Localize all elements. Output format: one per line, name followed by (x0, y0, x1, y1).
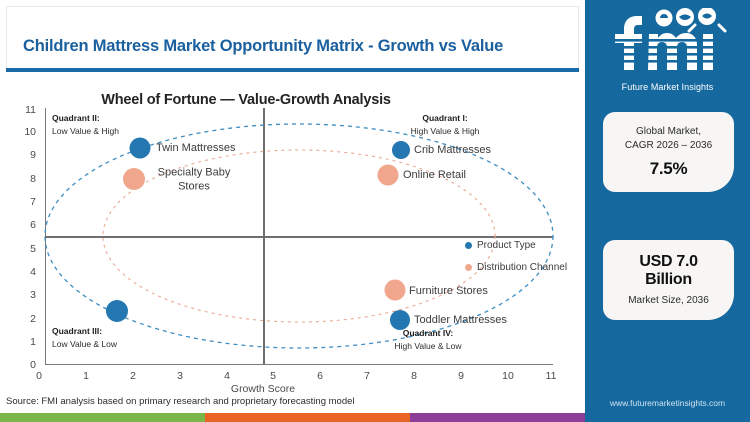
y-tick: 6 (10, 219, 36, 231)
y-tick: 8 (10, 173, 36, 185)
legend-item-distribution-channel[interactable]: Distribution Channel (465, 262, 567, 273)
footer-strip-orange (205, 413, 410, 422)
y-tick: 4 (10, 266, 36, 278)
y-tick: 10 (10, 126, 36, 138)
quadrant-I-heading: Quadrant I: (390, 112, 500, 125)
quadrant-label-IV: Quadrant IV: High Value & Low (373, 327, 483, 353)
market-size-caption: Market Size, 2036 (628, 294, 709, 308)
x-tick: 5 (258, 370, 288, 382)
x-tick: 10 (493, 370, 523, 382)
quadrant-label-III: Quadrant III: Low Value & Low (52, 325, 117, 351)
market-size-value-line2: Billion (645, 271, 692, 289)
x-tick: 9 (446, 370, 476, 382)
quadrant-II-desc: Low Value & High (52, 125, 119, 138)
quadrant-divider-horizontal (45, 236, 553, 238)
quadrant-II-heading: Quadrant II: (52, 112, 119, 125)
cagr-caption-line1: Global Market, (636, 125, 701, 139)
main-content-area: Children Mattress Market Opportunity Mat… (0, 0, 585, 422)
x-tick: 7 (352, 370, 382, 382)
data-point-specialty-baby-stores[interactable] (123, 168, 145, 190)
infographic-root: Children Mattress Market Opportunity Mat… (0, 0, 750, 422)
x-tick: 0 (24, 370, 54, 382)
x-tick: 4 (212, 370, 242, 382)
cagr-caption-line2: CAGR 2026 – 2036 (625, 139, 712, 153)
chart-title: Wheel of Fortune — Value-Growth Analysis (6, 92, 486, 108)
data-label-twin-mattresses: Twin Mattresses (156, 142, 235, 154)
data-label-crib-mattresses: Crib Mattresses (414, 144, 491, 156)
y-tick: 1 (10, 336, 36, 348)
y-tick: 5 (10, 243, 36, 255)
legend-item-product-type[interactable]: Product Type (465, 240, 536, 251)
data-point-twin-mattresses[interactable] (130, 138, 151, 159)
legend-dot-product-type (465, 242, 472, 249)
data-label-toddler-mattresses: Toddler Mattresses (414, 314, 507, 326)
legend-label-distribution-channel: Distribution Channel (477, 262, 567, 273)
fmi-logo-subtitle: Future Market Insights (585, 82, 750, 92)
data-point-toddler-mattresses[interactable] (390, 310, 410, 330)
website-url[interactable]: www.futuremarketinsights.com (585, 398, 750, 408)
source-note: Source: FMI analysis based on primary re… (6, 396, 355, 407)
footer-strip-purple (410, 413, 585, 422)
y-tick: 11 (10, 104, 36, 116)
quadrant-III-desc: Low Value & Low (52, 338, 117, 351)
x-tick: 11 (536, 370, 566, 382)
x-tick: 1 (71, 370, 101, 382)
y-tick: 9 (10, 149, 36, 161)
fmi-logo-mark (609, 8, 727, 80)
x-tick: 3 (165, 370, 195, 382)
data-point-furniture-stores[interactable] (385, 280, 406, 301)
y-tick: 7 (10, 196, 36, 208)
footer-strip-green (0, 413, 205, 422)
data-label-online-retail: Online Retail (403, 169, 466, 181)
quadrant-I-desc: High Value & High (390, 125, 500, 138)
x-tick: 2 (118, 370, 148, 382)
quadrant-label-II: Quadrant II: Low Value & High (52, 112, 119, 138)
cagr-value: 7.5% (650, 159, 688, 179)
stat-card-market-size: USD 7.0 Billion Market Size, 2036 (603, 240, 734, 320)
stat-card-cagr: Global Market, CAGR 2026 – 2036 7.5% (603, 112, 734, 192)
x-tick: 8 (399, 370, 429, 382)
data-label-furniture-stores: Furniture Stores (409, 285, 488, 297)
y-tick: 3 (10, 289, 36, 301)
title-band: Children Mattress Market Opportunity Mat… (6, 6, 579, 68)
x-tick: 6 (305, 370, 335, 382)
data-point-unlabeled-lower-left[interactable] (106, 300, 128, 322)
x-axis-label: Growth Score (231, 383, 295, 395)
fmi-logo: Future Market Insights (585, 8, 750, 92)
legend-label-product-type: Product Type (477, 240, 536, 251)
data-point-crib-mattresses[interactable] (392, 141, 410, 159)
y-tick: 2 (10, 313, 36, 325)
brand-sidebar: Future Market Insights Global Market, CA… (585, 0, 750, 422)
market-size-value-line1: USD 7.0 (639, 253, 697, 271)
quadrant-label-I: Quadrant I: High Value & High (390, 112, 500, 138)
page-title: Children Mattress Market Opportunity Mat… (23, 37, 503, 56)
quadrant-IV-desc: High Value & Low (373, 340, 483, 353)
data-label-specialty-baby-stores: Specialty Baby Stores (146, 166, 242, 194)
logo-head-icons (655, 8, 725, 31)
legend-dot-distribution-channel (465, 264, 472, 271)
data-point-online-retail[interactable] (378, 165, 399, 186)
quadrant-IV-heading: Quadrant IV: (373, 327, 483, 340)
quadrant-III-heading: Quadrant III: (52, 325, 117, 338)
